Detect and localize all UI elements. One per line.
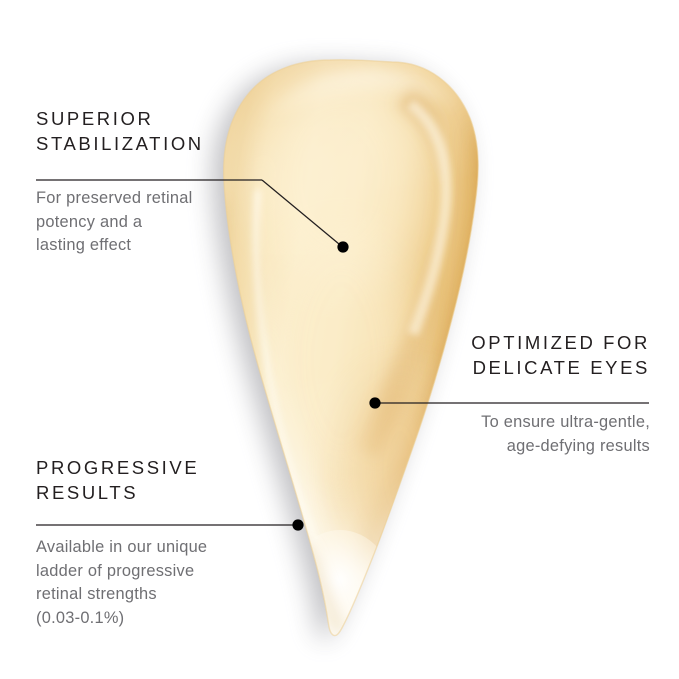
callout-optimized-for-delicate-eyes: OPTIMIZED FOR DELICATE EYES To ensure ul… — [380, 330, 650, 458]
callout-body-optimized-for-delicate-eyes: To ensure ultra-gentle, age-defying resu… — [380, 411, 650, 458]
callout-progressive-results: PROGRESSIVE RESULTS Available in our uni… — [36, 455, 286, 630]
callout-title-optimized-for-delicate-eyes: OPTIMIZED FOR DELICATE EYES — [380, 330, 650, 380]
callout-dot-optimized-for-delicate-eyes — [369, 397, 380, 408]
callout-body-progressive-results: Available in our unique ladder of progre… — [36, 536, 286, 630]
callout-superior-stabilization: SUPERIOR STABILIZATION For preserved ret… — [36, 106, 286, 258]
callout-title-progressive-results: PROGRESSIVE RESULTS — [36, 455, 286, 505]
callout-dot-progressive-results — [292, 519, 303, 530]
callout-dot-superior-stabilization — [337, 241, 348, 252]
infographic-canvas: SUPERIOR STABILIZATION For preserved ret… — [0, 0, 679, 679]
callout-body-superior-stabilization: For preserved retinal potency and a last… — [36, 187, 286, 258]
callout-title-superior-stabilization: SUPERIOR STABILIZATION — [36, 106, 286, 156]
